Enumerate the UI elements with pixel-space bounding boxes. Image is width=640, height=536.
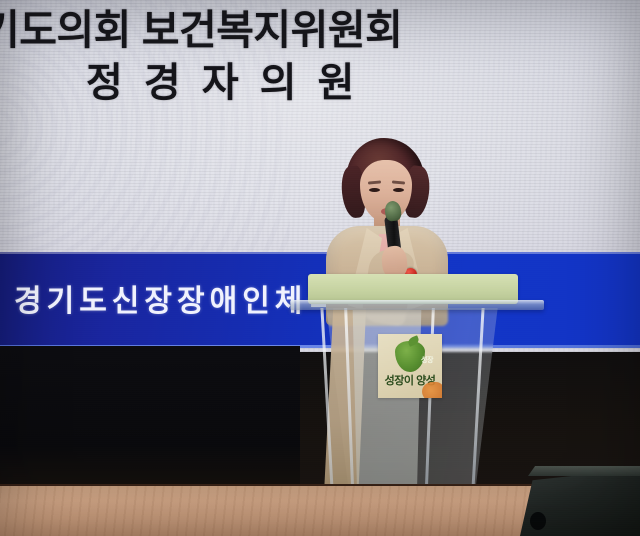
stage-monitor-port	[530, 512, 546, 530]
placard-accent-shape	[422, 382, 442, 398]
speaker-eye-left	[369, 188, 380, 192]
pear-emblem-text: 성장	[415, 355, 439, 365]
backdrop-dark-left	[0, 346, 300, 488]
slide-heading-line-1: 기도의회 보건복지위원회	[0, 0, 502, 56]
slide-heading-line-2: 정 경 자 의 원	[86, 50, 359, 108]
speaker-eye-right	[393, 188, 404, 192]
podium-glass-ledge	[290, 300, 544, 310]
podium-logo-placard: 성장 성장이 양성	[378, 334, 442, 398]
scene-photo: 기도의회 보건복지위원회 정 경 자 의 원 경기도신장장애인체육	[0, 0, 640, 536]
stage-monitor-top	[528, 466, 640, 476]
